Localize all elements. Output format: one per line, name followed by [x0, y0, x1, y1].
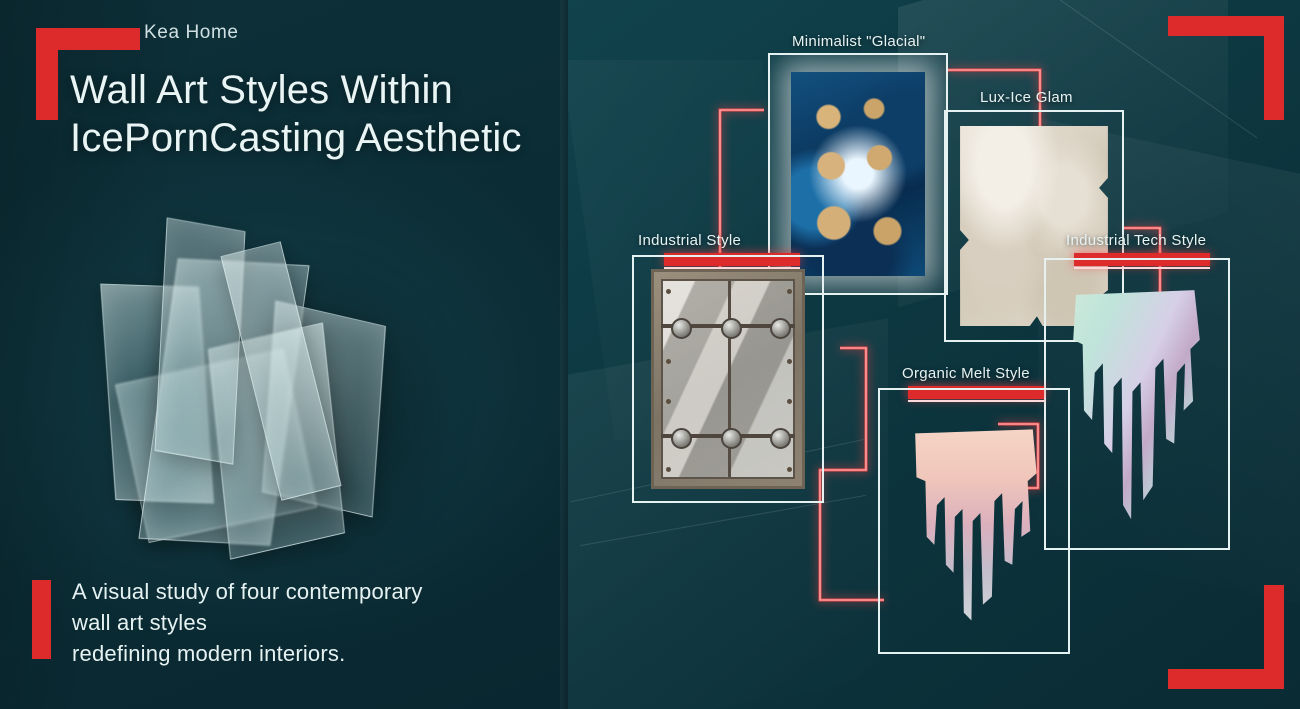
page-title: Wall Art Styles Within IcePornCasting Ae… — [70, 66, 560, 162]
poster-canvas: Kea Home Wall Art Styles Within IcePornC… — [0, 0, 1300, 709]
artwork-pink-melt-icon — [910, 421, 1038, 620]
card-image-organic-melt-style — [880, 390, 1068, 652]
artwork-blue-gold-geode-icon — [791, 72, 925, 277]
corner-bracket-top-right-icon — [1168, 16, 1284, 120]
subtitle-line-3: redefining modern interiors. — [72, 638, 572, 669]
subtitle-line-1: A visual study of four contemporary — [72, 576, 572, 607]
subtitle-accent-bar — [32, 580, 51, 659]
artwork-riveted-window-icon — [651, 269, 805, 489]
card-label-industrial-style: Industrial Style — [638, 232, 741, 249]
card-image-industrial-tech-style — [1046, 260, 1228, 548]
card-label-industrial-tech-style: Industrial Tech Style — [1066, 232, 1206, 249]
card-label-organic-melt-style: Organic Melt Style — [902, 365, 1030, 382]
hero-glass-sculpture — [100, 215, 460, 585]
subtitle-line-2: wall art styles — [72, 607, 572, 638]
card-label-minimalist-glacial: Minimalist "Glacial" — [792, 33, 925, 50]
card-industrial-style[interactable] — [632, 255, 824, 503]
card-image-industrial-style — [634, 257, 822, 501]
subtitle-text: A visual study of four contemporary wall… — [72, 576, 572, 669]
card-label-lux-ice-glam: Lux-Ice Glam — [980, 89, 1073, 106]
page-title-line-1: Wall Art Styles Within — [70, 68, 453, 112]
page-title-line-2: IcePornCasting Aesthetic — [70, 114, 560, 162]
corner-bracket-bottom-right-icon — [1168, 585, 1284, 689]
card-industrial-tech-style[interactable] — [1044, 258, 1230, 550]
card-organic-melt-style[interactable] — [878, 388, 1070, 654]
brand-name: Kea Home — [144, 22, 239, 44]
artwork-mint-melt-icon — [1068, 283, 1203, 519]
